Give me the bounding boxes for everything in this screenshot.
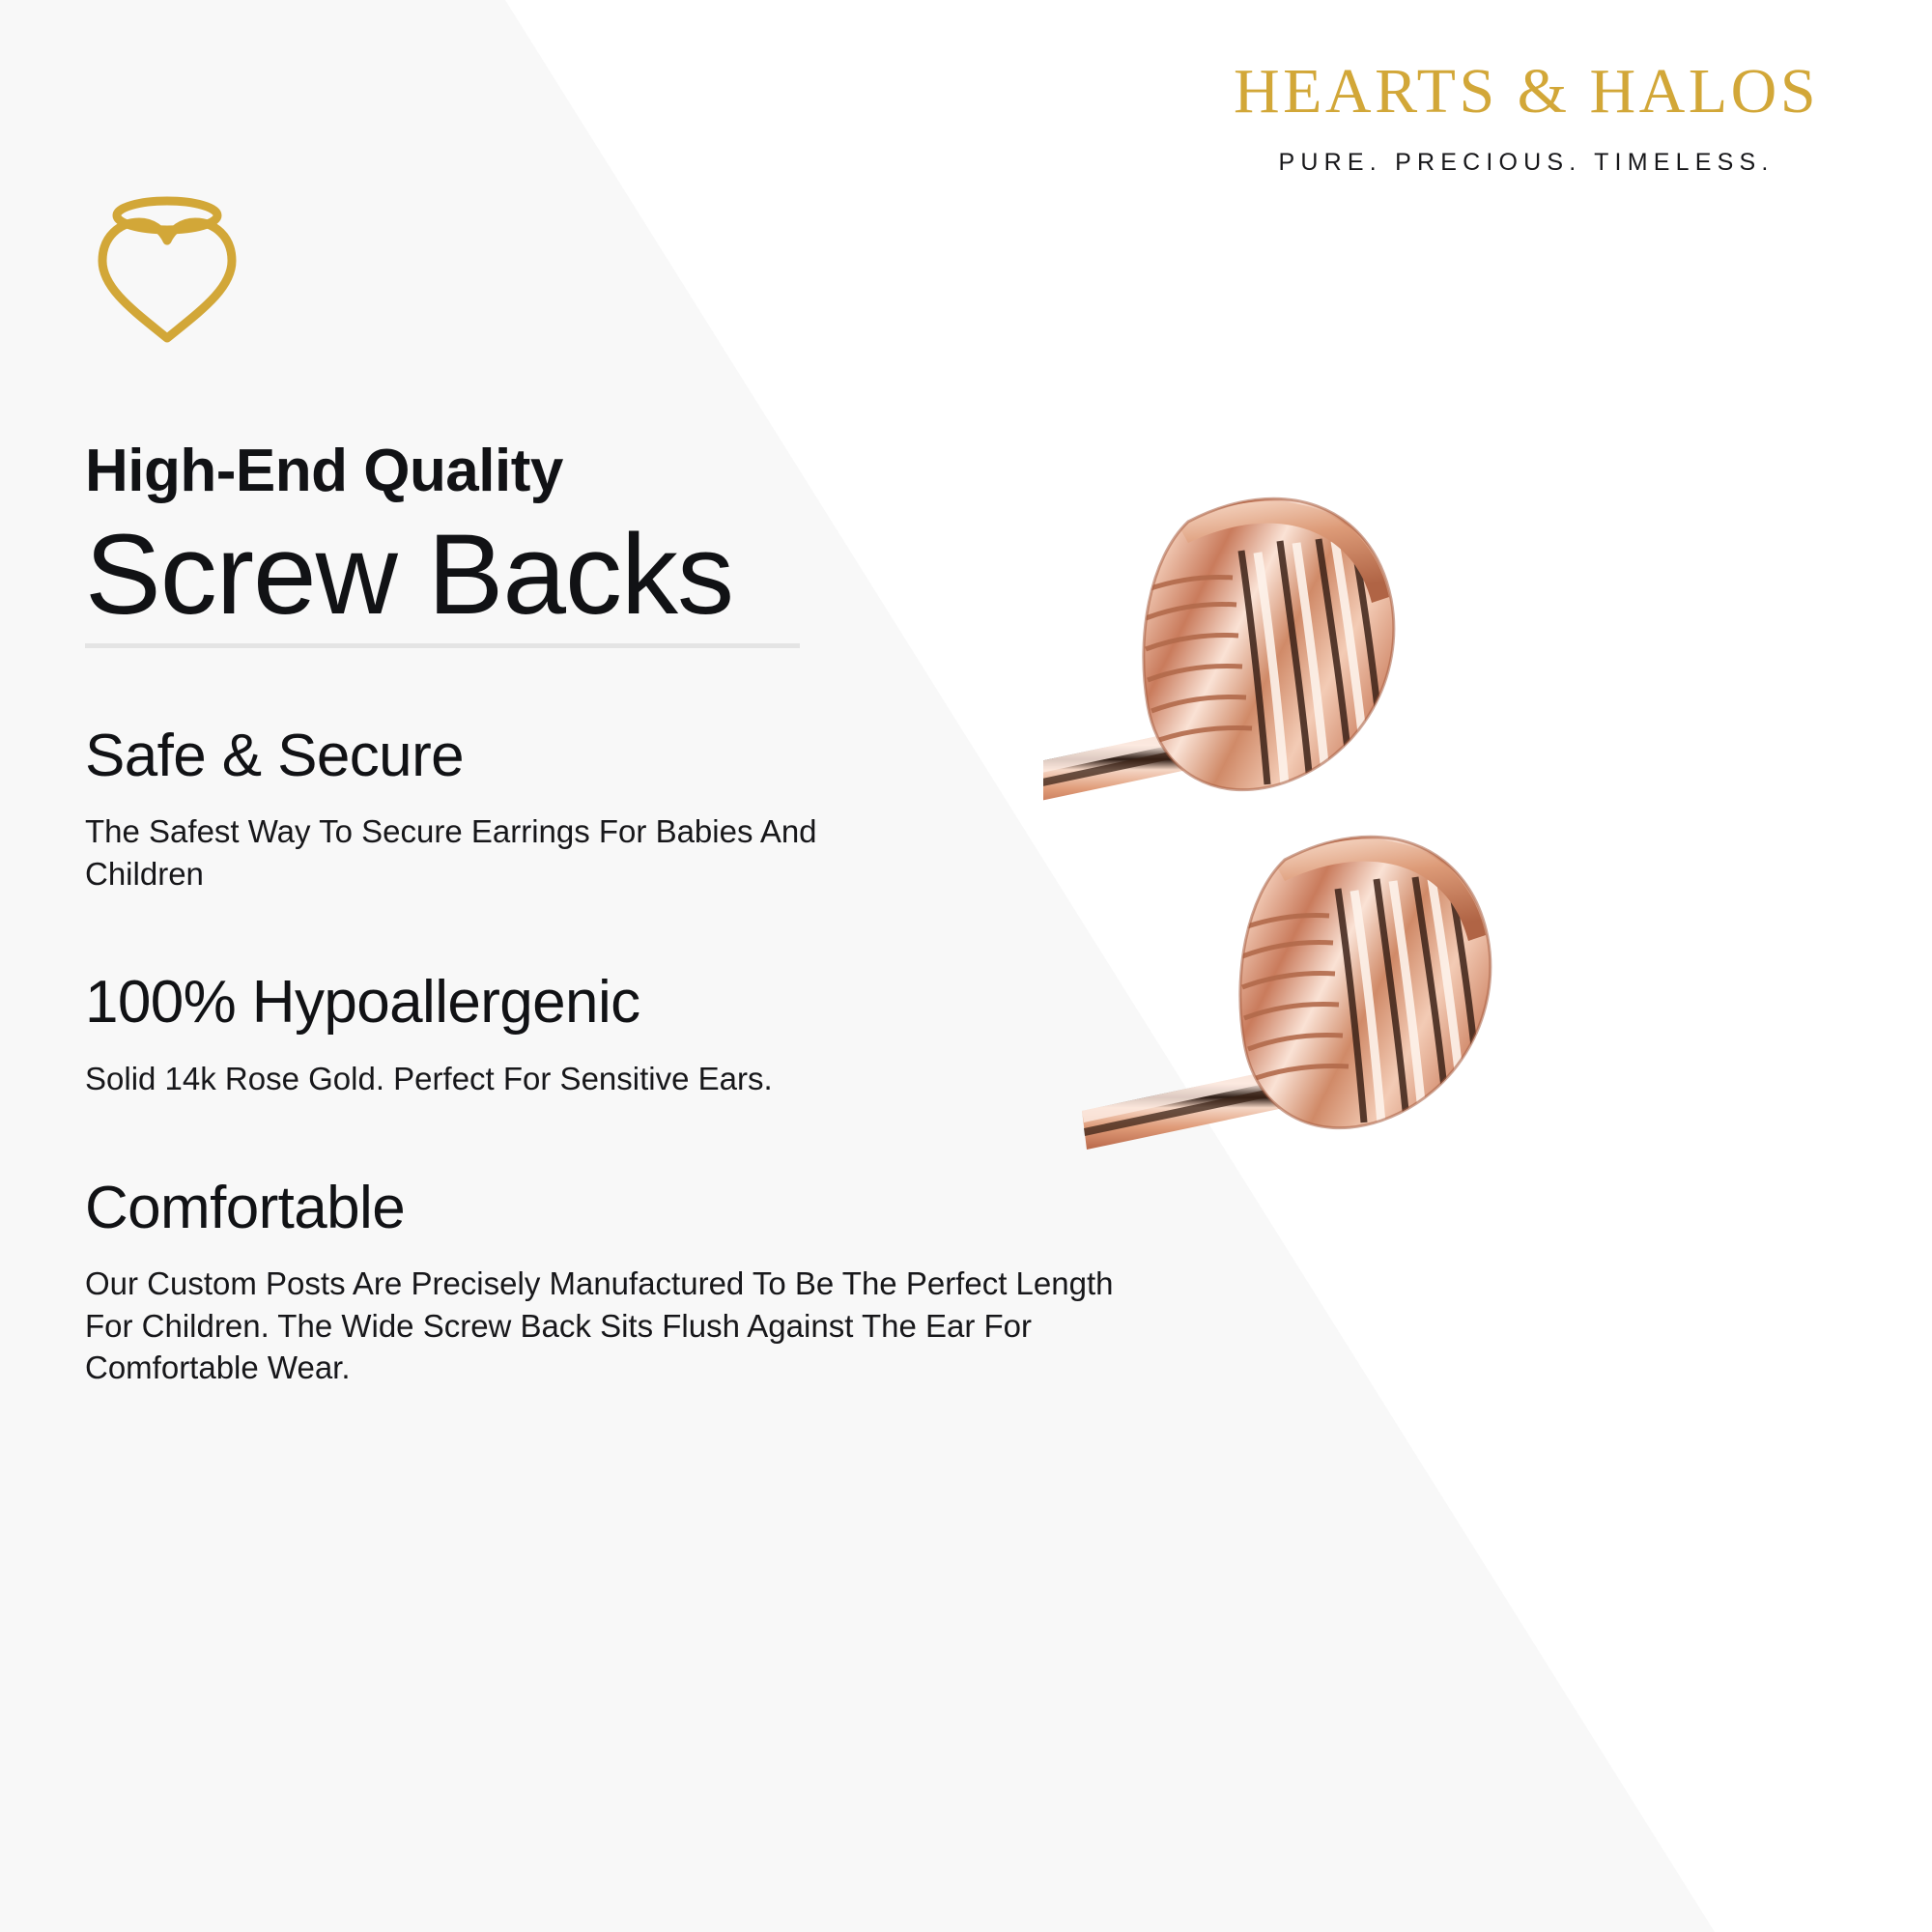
- feature-block-safe-secure: Safe & Secure The Safest Way To Secure E…: [85, 724, 1148, 895]
- feature-title: Comfortable: [85, 1176, 1148, 1241]
- feature-title: 100% Hypoallergenic: [85, 970, 1148, 1036]
- eyebrow-heading: High-End Quality: [85, 440, 1148, 502]
- feature-body: Solid 14k Rose Gold. Perfect For Sensiti…: [85, 1058, 848, 1100]
- feature-block-comfortable: Comfortable Our Custom Posts Are Precise…: [85, 1176, 1148, 1390]
- feature-block-hypoallergenic: 100% Hypoallergenic Solid 14k Rose Gold.…: [85, 970, 1148, 1099]
- feature-body: The Safest Way To Secure Earrings For Ba…: [85, 810, 848, 895]
- feature-title: Safe & Secure: [85, 724, 1148, 789]
- brand-logo-block: HEARTS & HALOS PURE. PRECIOUS. TIMELESS.: [1179, 60, 1874, 177]
- brand-tagline: PURE. PRECIOUS. TIMELESS.: [1179, 149, 1874, 177]
- halo-heart-icon: [75, 169, 259, 348]
- main-title-wrap: Screw Backs: [85, 514, 1148, 647]
- feature-body: Our Custom Posts Are Precisely Manufactu…: [85, 1263, 1123, 1390]
- content-column: High-End Quality Screw Backs Safe & Secu…: [85, 440, 1148, 1389]
- heart-outline: [102, 222, 232, 338]
- page-title: Screw Backs: [85, 514, 1148, 637]
- brand-name: HEARTS & HALOS: [1179, 60, 1874, 124]
- product-photo-rose-gold-screw-back-earrings: [1043, 483, 1816, 1256]
- title-underline-rule: [85, 643, 800, 648]
